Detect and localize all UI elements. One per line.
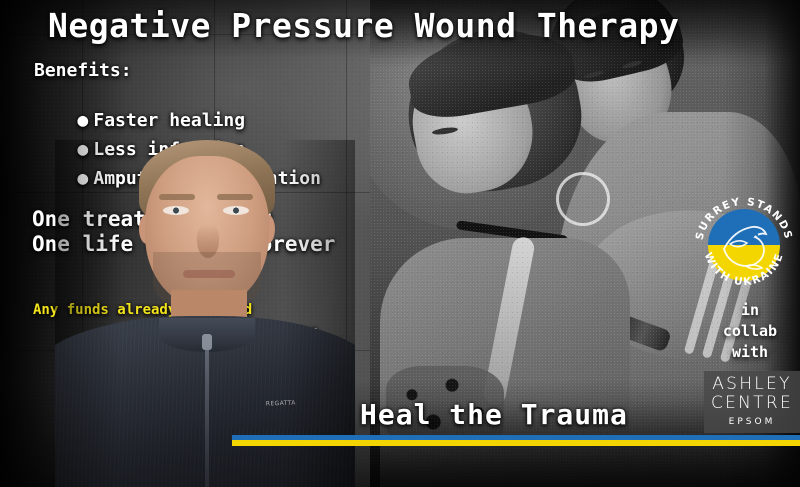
presenter-jacket-zip (205, 336, 209, 487)
ashley-logo-line-1: ASHLEY (704, 375, 800, 394)
presenter-zip-pull (202, 334, 212, 350)
collab-line-2: collab (700, 321, 800, 342)
jacket-brand-label: REGATTA (255, 399, 308, 419)
poster-screenshot: Negative Pressure Wound Therapy Benefits… (0, 0, 800, 487)
benefits-heading: Benefits: (34, 60, 132, 81)
presenter-eye-right (223, 206, 249, 215)
badge-bottom-text: WITH UKRAINE (702, 251, 786, 288)
presenter-eyebrow-left (159, 194, 195, 200)
presenter-eyebrow-right (217, 194, 253, 200)
presenter-eye-left (163, 206, 189, 215)
surrey-stands-with-ukraine-badge: SURREY STANDS WITH UKRAINE (694, 195, 794, 295)
flag-stripe-yellow (232, 440, 800, 446)
page-title: Negative Pressure Wound Therapy (48, 6, 679, 45)
ukraine-flag-rule (232, 435, 800, 446)
ashley-logo-line-2: CENTRE (704, 394, 800, 413)
ashley-logo-line-3: EPSOM (704, 415, 800, 429)
badge-ring-text: SURREY STANDS WITH UKRAINE (694, 195, 794, 295)
collab-line-1: in (700, 300, 800, 321)
presenter-mouth (183, 270, 235, 278)
tagline: Heal the Trauma (360, 398, 628, 431)
ashley-centre-logo: ASHLEY CENTRE EPSOM (704, 371, 800, 433)
collab-line-3: with (700, 342, 800, 363)
collab-caption: in collab with (700, 300, 800, 363)
